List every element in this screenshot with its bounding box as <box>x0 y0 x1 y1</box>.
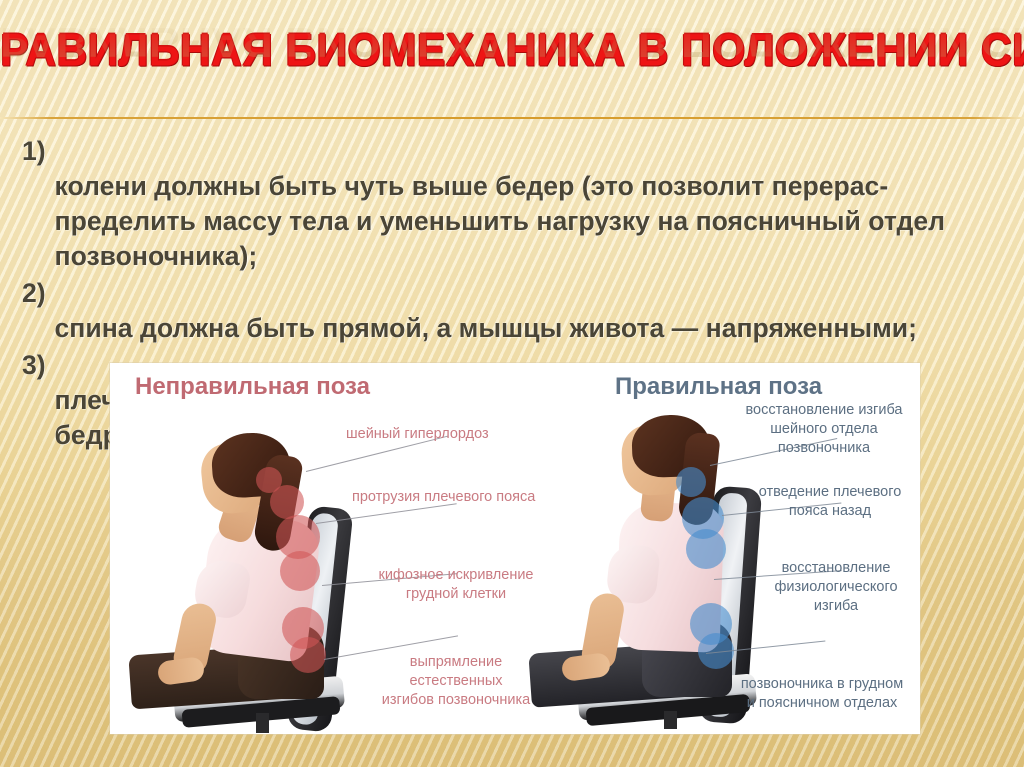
slide-title-block: ПРАВИЛЬНАЯ БИОМЕХАНИКА В ПОЛОЖЕНИИ СИДЯ … <box>0 22 1024 108</box>
page-title-reflection: ПРАВИЛЬНАЯ БИОМЕХАНИКА В ПОЛОЖЕНИИ СИДЯ <box>0 16 1024 68</box>
slide: ПРАВИЛЬНАЯ БИОМЕХАНИКА В ПОЛОЖЕНИИ СИДЯ … <box>0 0 1024 767</box>
list-item-number: 2) <box>22 276 46 311</box>
annotation-thoracic-lumbar-spine: позвоночника в грудном и поясничном отде… <box>710 675 920 713</box>
annotation-cervical-hyperlordosis: шейный гиперлордоз <box>346 425 489 444</box>
spine-marker <box>280 551 320 591</box>
neck-marker <box>256 467 282 493</box>
spine-marker <box>686 529 726 569</box>
annotation-cervical-curve-restored: восстановление изгиба шейного отдела поз… <box>720 401 920 458</box>
chair-post-left <box>256 713 269 733</box>
spine-marker <box>290 637 326 673</box>
annotation-kyphotic-curvature: кифозное искривление грудной клетки <box>358 566 554 604</box>
annotation-shoulder-retraction: отведение плечевого пояса назад <box>732 483 920 521</box>
posture-illustration: Неправильная поза Правильная поза <box>110 363 920 734</box>
list-item: 1)колени должны быть чуть выше бедер (эт… <box>22 134 992 274</box>
annotation-physiological-curve-restored: восстановление физиологического изгиба <box>746 559 920 616</box>
annotation-straightening-of-curves: выпрямление естественных изгибов позвоно… <box>362 653 550 710</box>
correct-posture-heading: Правильная поза <box>615 373 822 401</box>
title-divider <box>0 117 1024 119</box>
list-item: 2)спина должна быть прямой, а мышцы живо… <box>22 276 992 346</box>
list-item-number: 1) <box>22 134 46 169</box>
list-item-text: спина должна быть прямой, а мышцы живота… <box>55 313 917 343</box>
wrong-posture-heading: Неправильная поза <box>135 373 370 401</box>
spine-marker <box>676 467 706 497</box>
list-item-text: колени должны быть чуть выше бедер (это … <box>55 171 946 271</box>
annotation-shoulder-protrusion: протрузия плечевого пояса <box>352 488 535 507</box>
chair-post-right <box>664 711 677 729</box>
list-item-number: 3) <box>22 348 46 383</box>
